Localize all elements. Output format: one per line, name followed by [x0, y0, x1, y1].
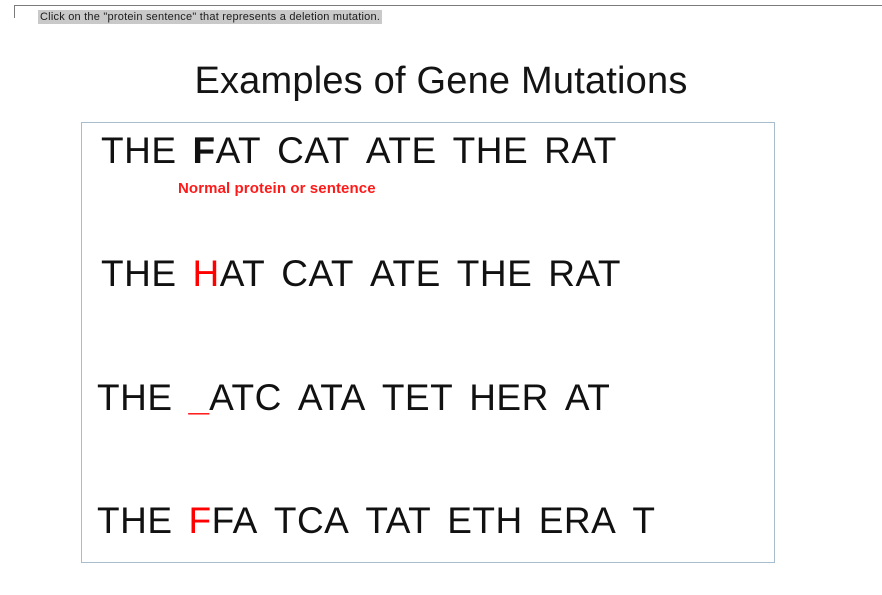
protein-sentence-normal[interactable]: THEFATCATATETHERAT [101, 130, 617, 172]
window-left-rule [14, 5, 15, 18]
protein-sentence-insertion[interactable]: THEFFATCATATETHERAT [97, 500, 655, 542]
page-title: Examples of Gene Mutations [0, 60, 882, 103]
window-top-rule [14, 5, 882, 6]
sentence-word-remainder: FA [212, 500, 258, 541]
sentence-word: ETH [447, 500, 523, 541]
sentence-word-mutated: FFA [189, 500, 258, 541]
sentence-word-remainder: AT [220, 253, 266, 294]
sentence-word: ERA [539, 500, 617, 541]
sentence-word: THE [97, 500, 173, 541]
instruction-banner: Click on the "protein sentence" that rep… [38, 10, 382, 24]
sentence-word: THE [101, 130, 177, 171]
sentence-word: RAT [544, 130, 617, 171]
sentence-word: CAT [281, 253, 354, 294]
sentence-word-mutated: _ATC [189, 377, 282, 418]
sentence-word: THE [457, 253, 533, 294]
mutation-marker-red: H [193, 253, 220, 294]
sentence-word-remainder: AT [216, 130, 262, 171]
sentence-word: AT [565, 377, 611, 418]
sentence-word: T [632, 500, 655, 541]
sentence-word-mutated: FAT [193, 130, 262, 171]
sentence-word: ATA [298, 377, 366, 418]
sentence-word: ATE [366, 130, 437, 171]
sentence-word-mutated: HAT [193, 253, 266, 294]
protein-sentence-substitution[interactable]: THEHATCATATETHERAT [101, 253, 621, 295]
protein-sentence-deletion[interactable]: THE_ATCATATETHERAT [97, 377, 610, 419]
normal-protein-caption: Normal protein or sentence [178, 180, 376, 197]
sentence-word: THE [453, 130, 529, 171]
sentence-word: TAT [365, 500, 431, 541]
sentence-word: TET [382, 377, 453, 418]
sentence-word: ATE [370, 253, 441, 294]
sentence-word-remainder: ATC [209, 377, 282, 418]
sentence-word: HER [469, 377, 549, 418]
mutation-marker-red: F [189, 500, 212, 541]
sentence-word: THE [97, 377, 173, 418]
sentence-word: THE [101, 253, 177, 294]
sentence-word: CAT [277, 130, 350, 171]
mutation-marker-bold: F [193, 130, 216, 171]
sentence-word: TCA [274, 500, 350, 541]
deletion-marker-icon: _ [189, 377, 210, 418]
sentence-word: RAT [548, 253, 621, 294]
